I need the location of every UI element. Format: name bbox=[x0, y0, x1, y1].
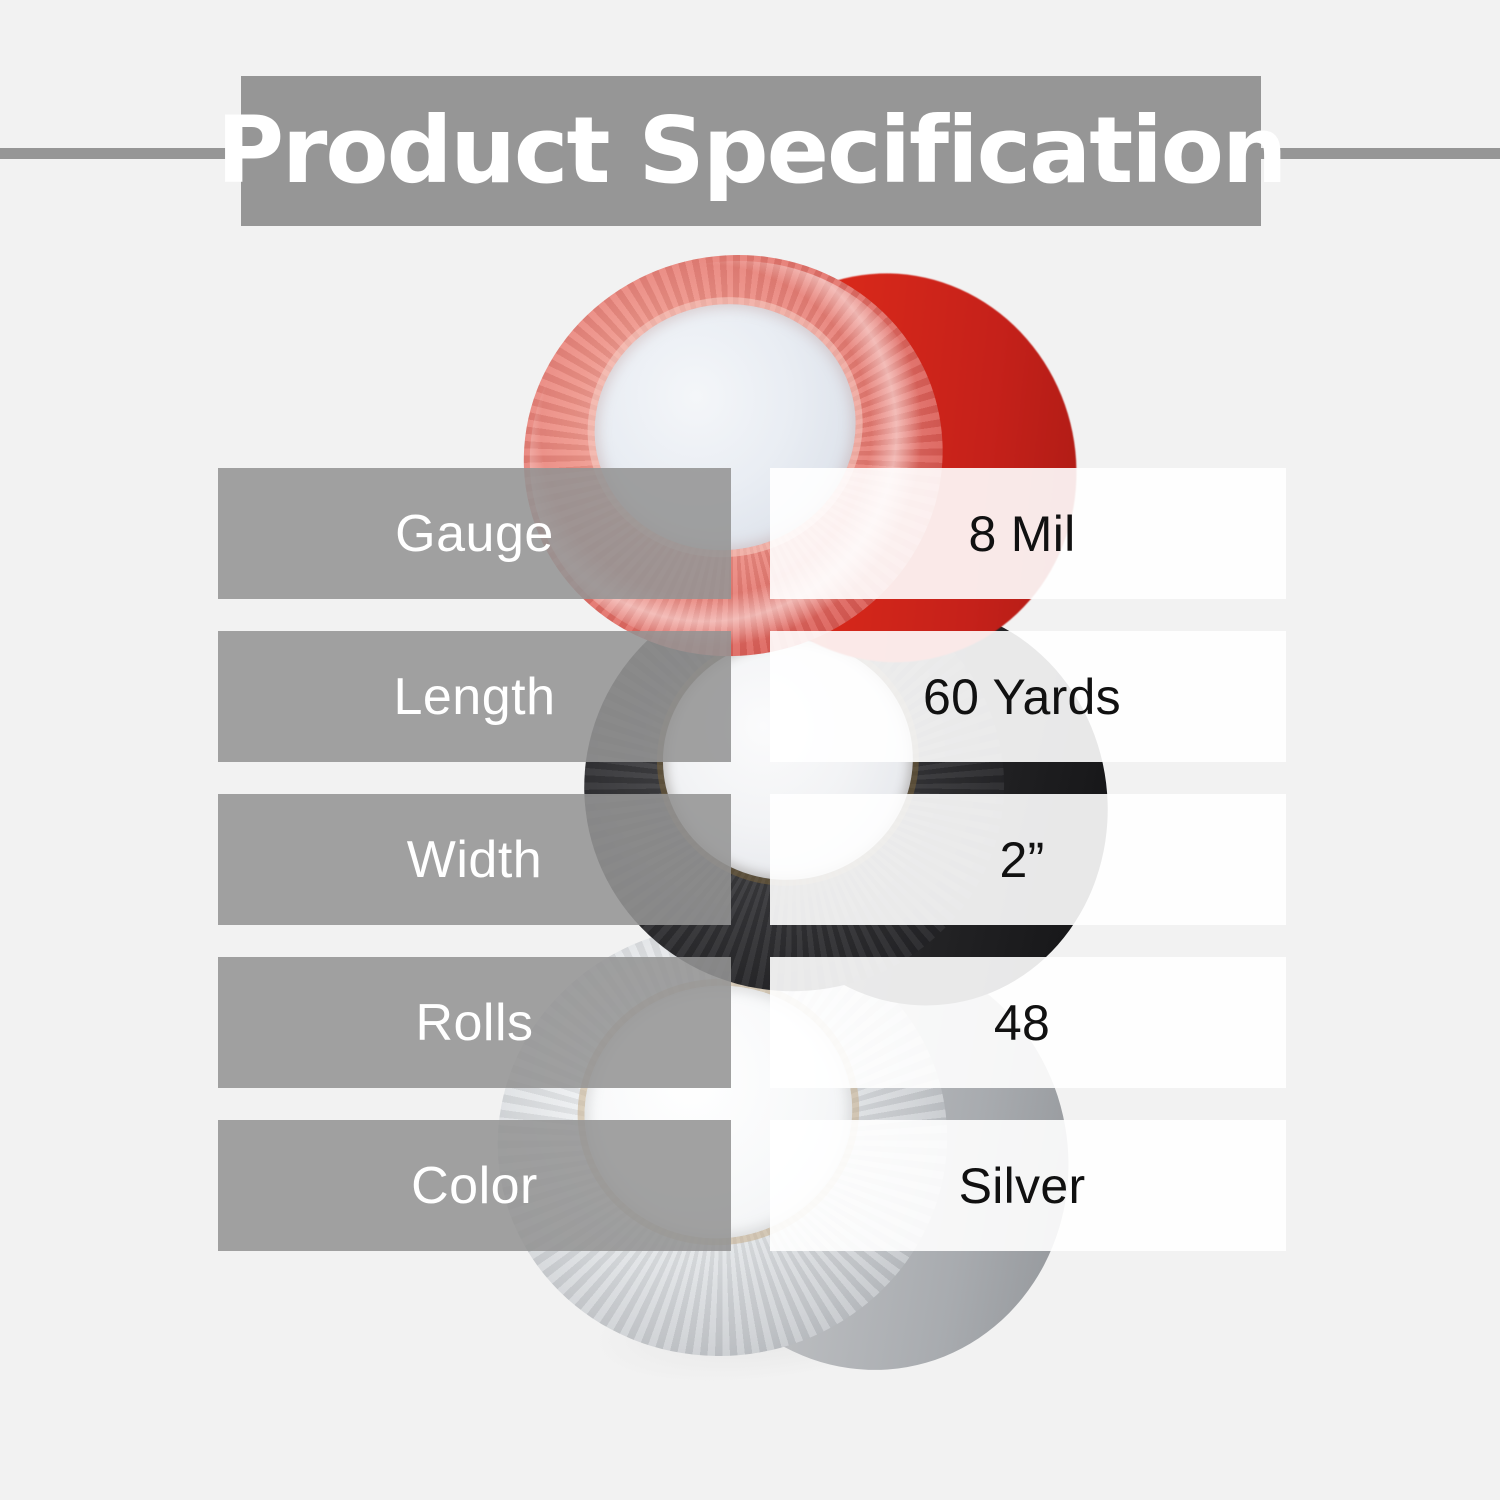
spec-label-text: Length bbox=[393, 671, 555, 723]
spec-value-text: 2” bbox=[999, 835, 1044, 885]
spec-value-cell: 2” bbox=[770, 794, 1286, 925]
spec-value-cell: 8 Mil bbox=[770, 468, 1286, 599]
spec-label-cell: Gauge bbox=[218, 468, 731, 599]
spec-label-text: Color bbox=[411, 1160, 538, 1212]
table-row: Gauge 8 Mil bbox=[218, 468, 1286, 599]
spec-label-cell: Color bbox=[218, 1120, 731, 1251]
spec-label-cell: Rolls bbox=[218, 957, 731, 1088]
spec-label-text: Rolls bbox=[415, 997, 533, 1049]
page-title: Product Specification bbox=[217, 105, 1286, 197]
specification-table: Gauge 8 Mil Length 60 Yards Width 2” bbox=[218, 468, 1286, 1251]
spec-label-text: Width bbox=[407, 834, 542, 886]
spec-value-text: 8 Mil bbox=[968, 509, 1075, 559]
spec-label-cell: Width bbox=[218, 794, 731, 925]
spec-value-cell: 48 bbox=[770, 957, 1286, 1088]
spec-value-text: 48 bbox=[994, 998, 1050, 1048]
table-row: Length 60 Yards bbox=[218, 631, 1286, 762]
table-row: Rolls 48 bbox=[218, 957, 1286, 1088]
spec-value-cell: Silver bbox=[770, 1120, 1286, 1251]
table-row: Width 2” bbox=[218, 794, 1286, 925]
table-row: Color Silver bbox=[218, 1120, 1286, 1251]
spec-label-text: Gauge bbox=[395, 508, 554, 560]
product-specification-card: Product Specification Gauge 8 Mil Length… bbox=[0, 0, 1500, 1500]
title-banner: Product Specification bbox=[241, 76, 1261, 226]
spec-value-text: Silver bbox=[959, 1161, 1086, 1211]
spec-label-cell: Length bbox=[218, 631, 731, 762]
spec-value-cell: 60 Yards bbox=[770, 631, 1286, 762]
spec-value-text: 60 Yards bbox=[923, 672, 1121, 722]
